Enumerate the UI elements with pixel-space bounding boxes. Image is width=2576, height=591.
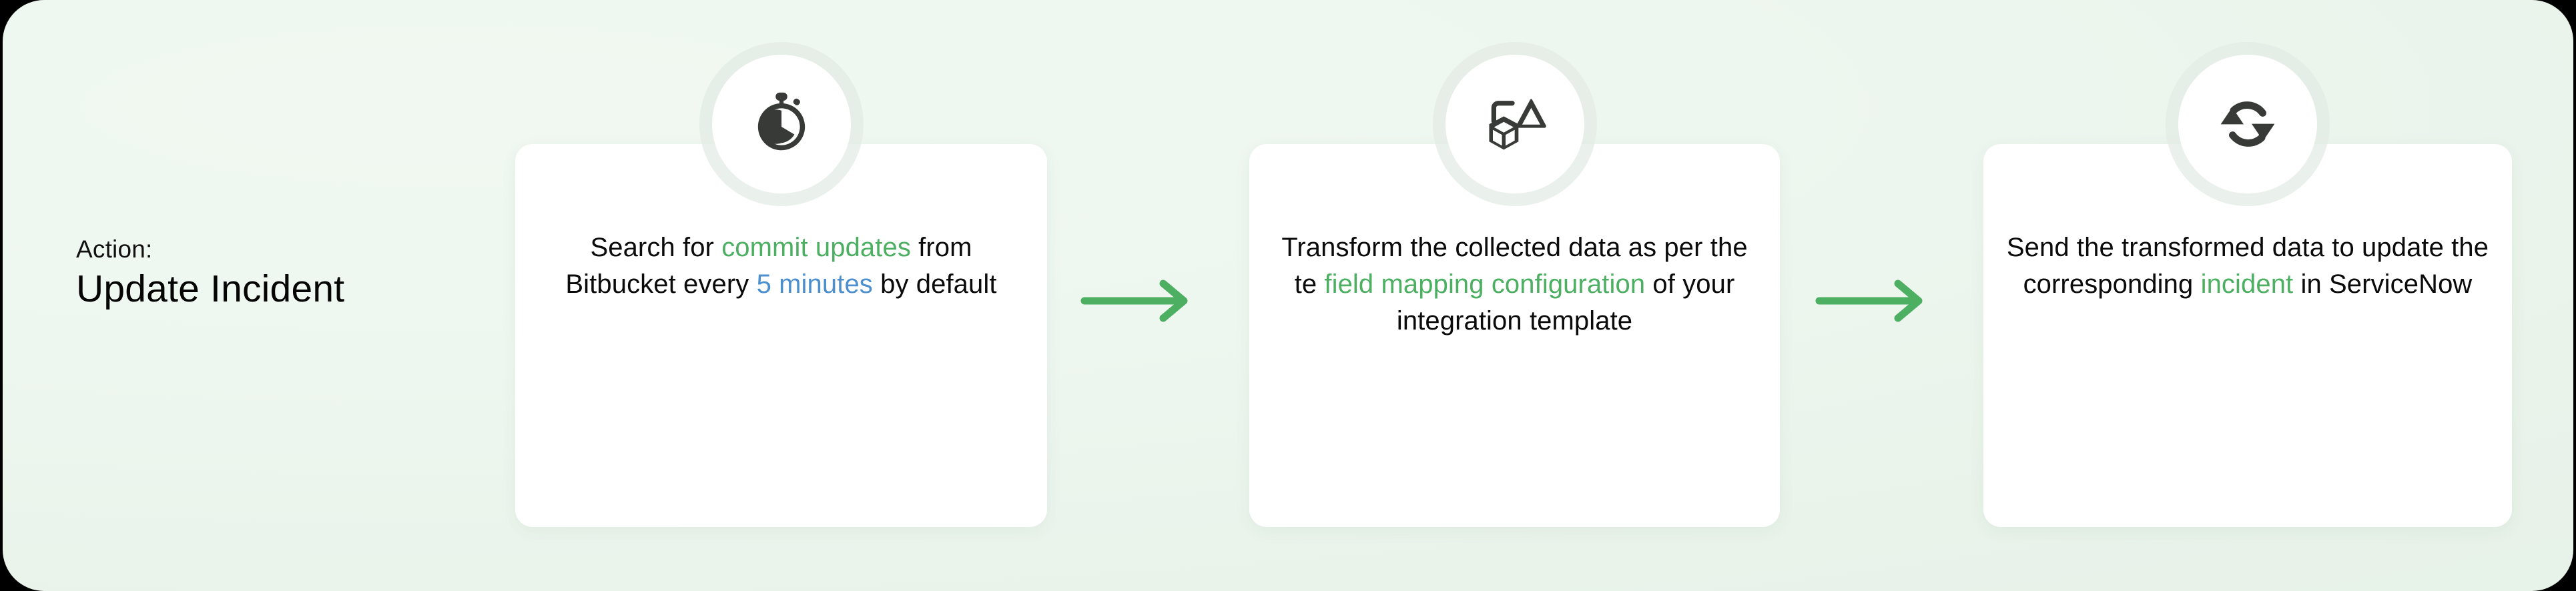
diagram-stage: Action: Update Incident bbox=[0, 0, 2576, 591]
diagram-canvas: Action: Update Incident bbox=[3, 0, 2573, 591]
step-card-1[interactable]: Search for commit updates from Bitbucket… bbox=[515, 144, 1047, 527]
step-1-description: Search for commit updates from Bitbucket… bbox=[534, 229, 1028, 303]
stopwatch-icon bbox=[744, 87, 819, 161]
stopwatch-icon-badge bbox=[698, 41, 865, 207]
icon-disc-2 bbox=[1445, 55, 1584, 193]
step-card-2[interactable]: Transform the collected data as per the … bbox=[1249, 144, 1780, 527]
arrow-step2-to-step3 bbox=[1815, 277, 1930, 324]
step-1-highlight-interval: 5 minutes bbox=[757, 269, 873, 299]
step-3-description: Send the transformed data to update the … bbox=[2002, 229, 2493, 303]
step-3-text-part2: in ServiceNow bbox=[2293, 269, 2472, 299]
step-1-highlight-commit-updates: commit updates bbox=[721, 233, 911, 262]
step-1-text-part3: by default bbox=[873, 269, 997, 299]
icon-disc-3 bbox=[2178, 55, 2317, 193]
action-label-block: Action: Update Incident bbox=[76, 235, 490, 311]
sync-refresh-icon bbox=[2212, 89, 2283, 159]
icon-disc-1 bbox=[712, 55, 851, 193]
transform-shapes-icon-badge bbox=[1431, 41, 1598, 207]
arrow-step1-to-step2 bbox=[1080, 277, 1195, 324]
step-2-description: Transform the collected data as per the … bbox=[1268, 229, 1761, 340]
step-3-highlight-incident: incident bbox=[2201, 269, 2294, 299]
sync-refresh-icon-badge bbox=[2164, 41, 2331, 207]
transform-shapes-icon bbox=[1478, 87, 1552, 161]
step-1-text-part1: Search for bbox=[590, 233, 721, 262]
action-title: Update Incident bbox=[76, 267, 490, 311]
action-kicker: Action: bbox=[76, 235, 490, 264]
step-card-3[interactable]: Send the transformed data to update the … bbox=[1983, 144, 2512, 527]
step-2-highlight-field-mapping: field mapping configuration bbox=[1324, 269, 1645, 299]
